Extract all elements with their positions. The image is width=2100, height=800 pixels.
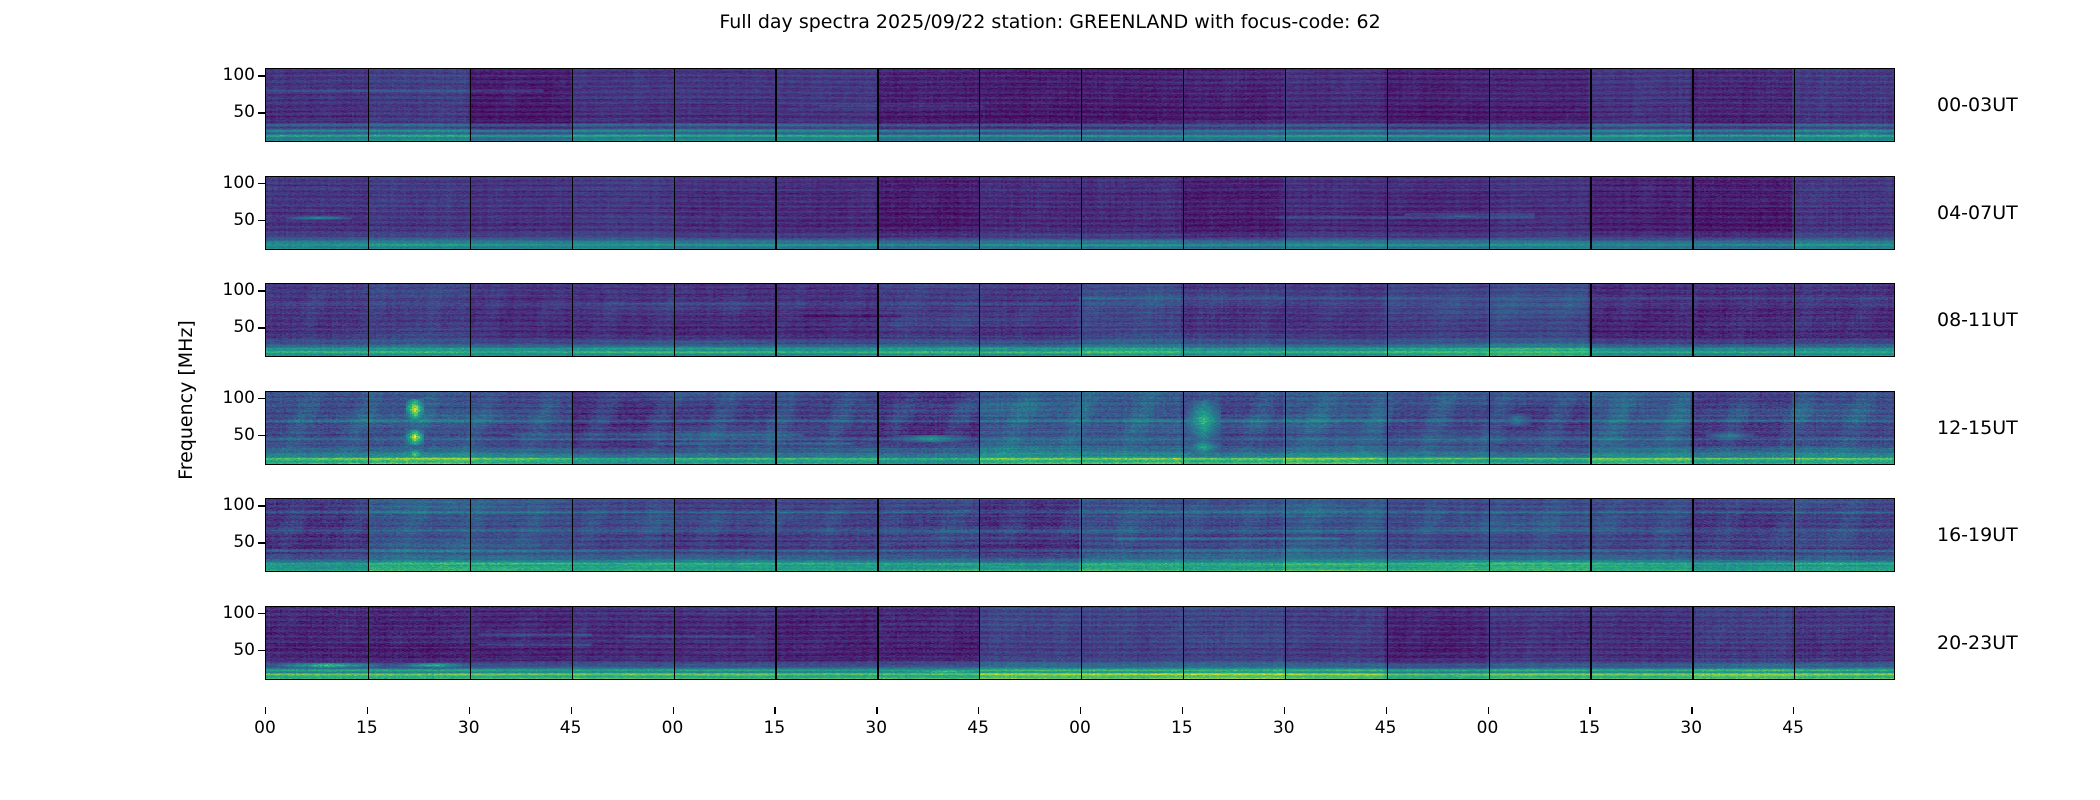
subpanel-separator [1387,284,1388,356]
y-axis-tick-label: 50 [233,210,255,230]
subpanel-separator [1081,499,1082,571]
subpanel-separator [877,177,878,249]
x-axis-tick [367,707,368,714]
y-axis-tick-label: 50 [233,102,255,122]
y-axis-label: Frequency [MHz] [175,320,197,480]
subpanel-separator [470,177,471,249]
spectrogram-panel[interactable] [265,391,1895,465]
x-axis-tick-label: 30 [865,718,887,738]
x-axis-tick-label: 30 [1680,718,1702,738]
row-time-range-label: 16-19UT [1937,524,2018,546]
subpanel-separator [1692,499,1693,571]
subpanel-separator [1387,499,1388,571]
subpanel-separator [1183,607,1184,679]
subpanel-separator [1794,284,1795,356]
y-axis-tick-label: 100 [223,280,255,300]
spectrogram-image [266,177,1894,249]
subpanel-separator [572,499,573,571]
x-axis-tick-label: 15 [1579,718,1601,738]
subpanel-separator [674,392,675,464]
subpanel-separator [368,392,369,464]
subpanel-separator [1590,499,1591,571]
subpanel-separator [1387,392,1388,464]
spectrogram-panel[interactable] [265,498,1895,572]
x-axis-tick [1284,707,1285,714]
subpanel-separator [1183,499,1184,571]
spectrogram-panel[interactable] [265,283,1895,357]
y-axis-tick [258,183,265,184]
x-axis-tick [469,707,470,714]
y-axis-tick [258,613,265,614]
subpanel-separator [1590,177,1591,249]
y-axis-tick [258,327,265,328]
y-axis-tick-label: 50 [233,317,255,337]
subpanel-separator [1285,607,1286,679]
subpanel-separator [1692,284,1693,356]
spectrogram-panel[interactable] [265,606,1895,680]
subpanel-separator [1692,69,1693,141]
x-axis-tick-label: 45 [1782,718,1804,738]
x-axis-tick-label: 15 [1171,718,1193,738]
subpanel-separator [1590,284,1591,356]
subpanel-separator [1692,177,1693,249]
subpanel-separator [1183,284,1184,356]
row-time-range-label: 08-11UT [1937,309,2018,331]
subpanel-separator [1489,499,1490,571]
subpanel-separator [1285,177,1286,249]
y-axis-tick [258,112,265,113]
spectrogram-row: 1005016-19UT [265,498,1895,572]
subpanel-separator [1794,392,1795,464]
spectrogram-image [266,284,1894,356]
spectrogram-row: 1005000-03UT [265,68,1895,142]
spectrogram-image [266,69,1894,141]
subpanel-separator [979,69,980,141]
x-axis-tick-label: 15 [764,718,786,738]
y-axis-tick-label: 100 [223,65,255,85]
subpanel-separator [1081,177,1082,249]
x-axis-tick-label: 00 [1477,718,1499,738]
subpanel-separator [1183,177,1184,249]
spectrogram-image [266,607,1894,679]
subpanel-separator [674,69,675,141]
subpanel-separator [775,69,776,141]
subpanel-separator [979,607,980,679]
y-axis-tick [258,398,265,399]
subpanel-separator [775,392,776,464]
y-axis-tick-label: 50 [233,532,255,552]
y-axis-tick [258,290,265,291]
x-axis-tick [265,707,266,714]
subpanel-separator [1489,392,1490,464]
row-time-range-label: 20-23UT [1937,632,2018,654]
x-axis-tick [1691,707,1692,714]
spectrogram-panel[interactable] [265,68,1895,142]
subpanel-separator [674,499,675,571]
spectrogram-panel[interactable] [265,176,1895,250]
subpanel-separator [572,177,573,249]
subpanel-separator [1387,69,1388,141]
subpanel-separator [775,607,776,679]
x-axis-tick-label: 30 [458,718,480,738]
y-axis-tick [258,650,265,651]
row-time-range-label: 00-03UT [1937,94,2018,116]
subpanel-separator [1590,607,1591,679]
subpanel-separator [1183,69,1184,141]
subpanel-separator [1692,392,1693,464]
x-axis-tick-label: 30 [1273,718,1295,738]
page-title: Full day spectra 2025/09/22 station: GRE… [0,11,2100,33]
row-time-range-label: 12-15UT [1937,417,2018,439]
x-axis-tick-label: 00 [254,718,276,738]
y-axis-tick [258,220,265,221]
y-axis-tick [258,435,265,436]
subpanel-separator [1285,284,1286,356]
x-axis-tick [1488,707,1489,714]
spectrogram-row: 1005004-07UT [265,176,1895,250]
subpanel-separator [674,284,675,356]
subpanel-separator [1285,392,1286,464]
subpanel-separator [877,499,878,571]
spectrogram-image [266,499,1894,571]
spectrogram-row: 1005020-23UT [265,606,1895,680]
x-axis-tick [571,707,572,714]
subpanel-separator [979,177,980,249]
subpanel-separator [1183,392,1184,464]
subpanel-separator [368,69,369,141]
x-axis-tick [876,707,877,714]
subpanel-separator [1692,607,1693,679]
y-axis-tick-label: 100 [223,173,255,193]
subpanel-separator [1794,499,1795,571]
subpanel-separator [1489,607,1490,679]
subpanel-separator [368,177,369,249]
subpanel-separator [877,607,878,679]
x-axis-tick-label: 00 [1069,718,1091,738]
subpanel-separator [674,177,675,249]
subpanel-separator [1794,177,1795,249]
subpanel-separator [368,499,369,571]
x-axis-tick [673,707,674,714]
x-axis-tick [978,707,979,714]
subpanel-separator [368,607,369,679]
subpanel-separator [1489,69,1490,141]
subpanel-separator [979,499,980,571]
subpanel-separator [1590,69,1591,141]
subpanel-separator [979,392,980,464]
subpanel-separator [674,607,675,679]
subpanel-separator [470,607,471,679]
subpanel-separator [470,284,471,356]
subpanel-separator [775,284,776,356]
x-axis-tick-label: 45 [1375,718,1397,738]
x-axis-tick [1589,707,1590,714]
subpanel-separator [979,284,980,356]
subpanel-separator [1794,607,1795,679]
subpanel-separator [1081,607,1082,679]
y-axis-tick [258,505,265,506]
y-axis-tick-label: 100 [223,388,255,408]
subpanel-separator [1387,177,1388,249]
subpanel-separator [775,177,776,249]
subpanel-separator [877,284,878,356]
x-axis-tick [1182,707,1183,714]
y-axis-tick [258,75,265,76]
subpanel-separator [1285,69,1286,141]
subpanel-separator [877,392,878,464]
subpanel-separator [572,69,573,141]
subpanel-separator [368,284,369,356]
y-axis-tick-label: 100 [223,495,255,515]
x-axis-tick [1793,707,1794,714]
x-axis-tick-label: 45 [967,718,989,738]
subpanel-separator [572,607,573,679]
subpanel-separator [877,69,878,141]
x-axis-tick-label: 15 [356,718,378,738]
subpanel-separator [1285,499,1286,571]
x-axis-tick-label: 45 [560,718,582,738]
subpanel-separator [775,499,776,571]
subpanel-separator [1081,392,1082,464]
y-axis-tick-label: 100 [223,603,255,623]
figure-canvas: Full day spectra 2025/09/22 station: GRE… [0,0,2100,800]
subpanel-separator [1590,392,1591,464]
subpanel-separator [1387,607,1388,679]
y-axis-tick [258,542,265,543]
spectrogram-row: 1005012-15UT [265,391,1895,465]
subpanel-separator [470,392,471,464]
subpanel-separator [1794,69,1795,141]
subpanel-separator [1489,284,1490,356]
x-axis-tick [1386,707,1387,714]
subpanel-separator [470,499,471,571]
subpanel-separator [1081,284,1082,356]
spectrogram-image [266,392,1894,464]
subpanel-separator [1081,69,1082,141]
x-axis-tick-label: 00 [662,718,684,738]
subpanel-separator [572,392,573,464]
x-axis-tick [774,707,775,714]
subpanel-separator [470,69,471,141]
subpanel-separator [1489,177,1490,249]
row-time-range-label: 04-07UT [1937,202,2018,224]
x-axis-tick [1080,707,1081,714]
spectrogram-row: 1005008-11UT [265,283,1895,357]
y-axis-tick-label: 50 [233,640,255,660]
x-axis: 00153045001530450015304500153045 [265,714,1895,754]
subpanel-separator [572,284,573,356]
y-axis-tick-label: 50 [233,425,255,445]
